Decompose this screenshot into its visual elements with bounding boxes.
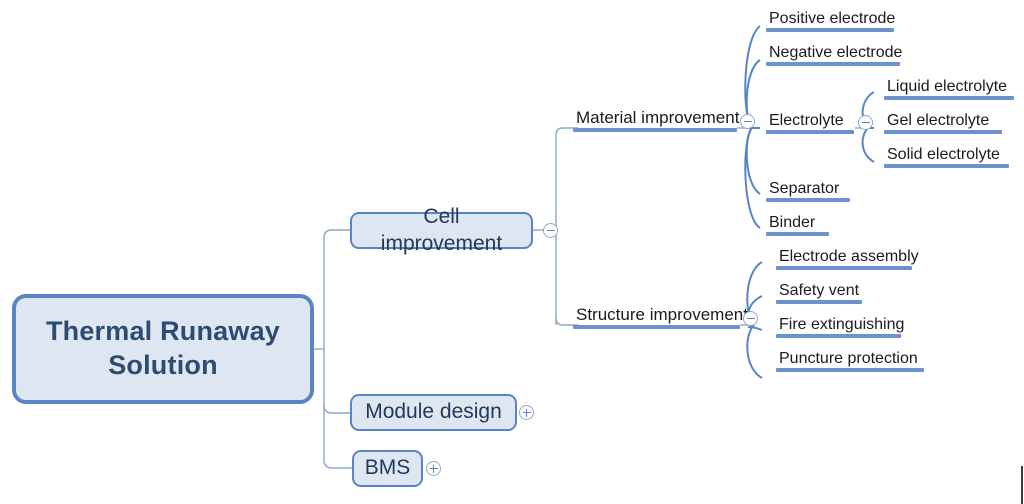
node-solid-electrolyte-underline bbox=[884, 164, 1009, 168]
node-gel-electrolyte-label: Gel electrolyte bbox=[884, 112, 992, 132]
node-safety-vent-label: Safety vent bbox=[776, 282, 862, 302]
node-electrode-assembly-underline bbox=[776, 266, 912, 270]
node-cell-improvement[interactable]: Cell improvement bbox=[350, 212, 533, 249]
node-fire-extinguishing-label: Fire extinguishing bbox=[776, 316, 907, 336]
node-liquid-electrolyte-label: Liquid electrolyte bbox=[884, 78, 1010, 98]
node-bms[interactable]: BMS bbox=[352, 450, 423, 487]
node-liquid-electrolyte[interactable]: Liquid electrolyte bbox=[884, 76, 1014, 100]
node-separator-underline bbox=[766, 198, 850, 202]
node-gel-electrolyte-underline bbox=[884, 130, 1002, 134]
toggle-structure-improvement-collapse[interactable] bbox=[743, 311, 758, 326]
node-bms-label: BMS bbox=[365, 455, 411, 481]
page-edge-line bbox=[1021, 466, 1023, 504]
node-cell-improvement-label: Cell improvement bbox=[364, 204, 519, 257]
root-node-label-line2: Solution bbox=[108, 350, 218, 380]
node-puncture-protection[interactable]: Puncture protection bbox=[776, 348, 924, 372]
node-module-design[interactable]: Module design bbox=[350, 394, 517, 431]
node-binder-underline bbox=[766, 232, 829, 236]
root-node-thermal-runaway-solution[interactable]: Thermal Runaway Solution bbox=[12, 294, 314, 404]
root-node-label: Thermal Runaway Solution bbox=[46, 315, 280, 383]
node-electrolyte-underline bbox=[766, 130, 854, 134]
node-material-improvement-underline bbox=[573, 128, 737, 132]
node-safety-vent[interactable]: Safety vent bbox=[776, 280, 862, 304]
node-fire-extinguishing[interactable]: Fire extinguishing bbox=[776, 314, 901, 338]
toggle-module-design-expand[interactable] bbox=[519, 405, 534, 420]
node-puncture-protection-label: Puncture protection bbox=[776, 350, 921, 370]
node-safety-vent-underline bbox=[776, 300, 862, 304]
node-electrode-assembly[interactable]: Electrode assembly bbox=[776, 246, 912, 270]
node-solid-electrolyte-label: Solid electrolyte bbox=[884, 146, 1003, 166]
node-structure-improvement-underline bbox=[573, 325, 740, 329]
node-positive-electrode[interactable]: Positive electrode bbox=[766, 8, 894, 32]
node-positive-electrode-underline bbox=[766, 28, 894, 32]
node-electrolyte[interactable]: Electrolyte bbox=[766, 110, 854, 134]
node-electrode-assembly-label: Electrode assembly bbox=[776, 248, 922, 268]
node-material-improvement[interactable]: Material improvement bbox=[573, 108, 737, 132]
node-positive-electrode-label: Positive electrode bbox=[766, 10, 898, 30]
node-liquid-electrolyte-underline bbox=[884, 96, 1014, 100]
node-separator-label: Separator bbox=[766, 180, 842, 200]
root-node-label-line1: Thermal Runaway bbox=[46, 316, 280, 346]
node-solid-electrolyte[interactable]: Solid electrolyte bbox=[884, 144, 1009, 168]
node-structure-improvement[interactable]: Structure improvement bbox=[573, 305, 740, 329]
node-negative-electrode-label: Negative electrode bbox=[766, 44, 905, 64]
toggle-material-improvement-collapse[interactable] bbox=[740, 114, 755, 129]
node-negative-electrode-underline bbox=[766, 62, 900, 66]
node-binder-label: Binder bbox=[766, 214, 818, 234]
node-fire-extinguishing-underline bbox=[776, 334, 901, 338]
node-separator[interactable]: Separator bbox=[766, 178, 850, 202]
toggle-bms-expand[interactable] bbox=[426, 461, 441, 476]
node-binder[interactable]: Binder bbox=[766, 212, 829, 236]
node-electrolyte-label: Electrolyte bbox=[766, 112, 847, 132]
node-puncture-protection-underline bbox=[776, 368, 924, 372]
node-gel-electrolyte[interactable]: Gel electrolyte bbox=[884, 110, 1002, 134]
node-material-improvement-label: Material improvement bbox=[573, 108, 742, 130]
node-negative-electrode[interactable]: Negative electrode bbox=[766, 42, 900, 66]
toggle-electrolyte-collapse[interactable] bbox=[858, 115, 873, 130]
node-module-design-label: Module design bbox=[365, 399, 502, 425]
mindmap-canvas: Thermal Runaway Solution Cell improvemen… bbox=[0, 0, 1024, 504]
node-structure-improvement-label: Structure improvement bbox=[573, 305, 751, 327]
toggle-cell-improvement-collapse[interactable] bbox=[543, 223, 558, 238]
